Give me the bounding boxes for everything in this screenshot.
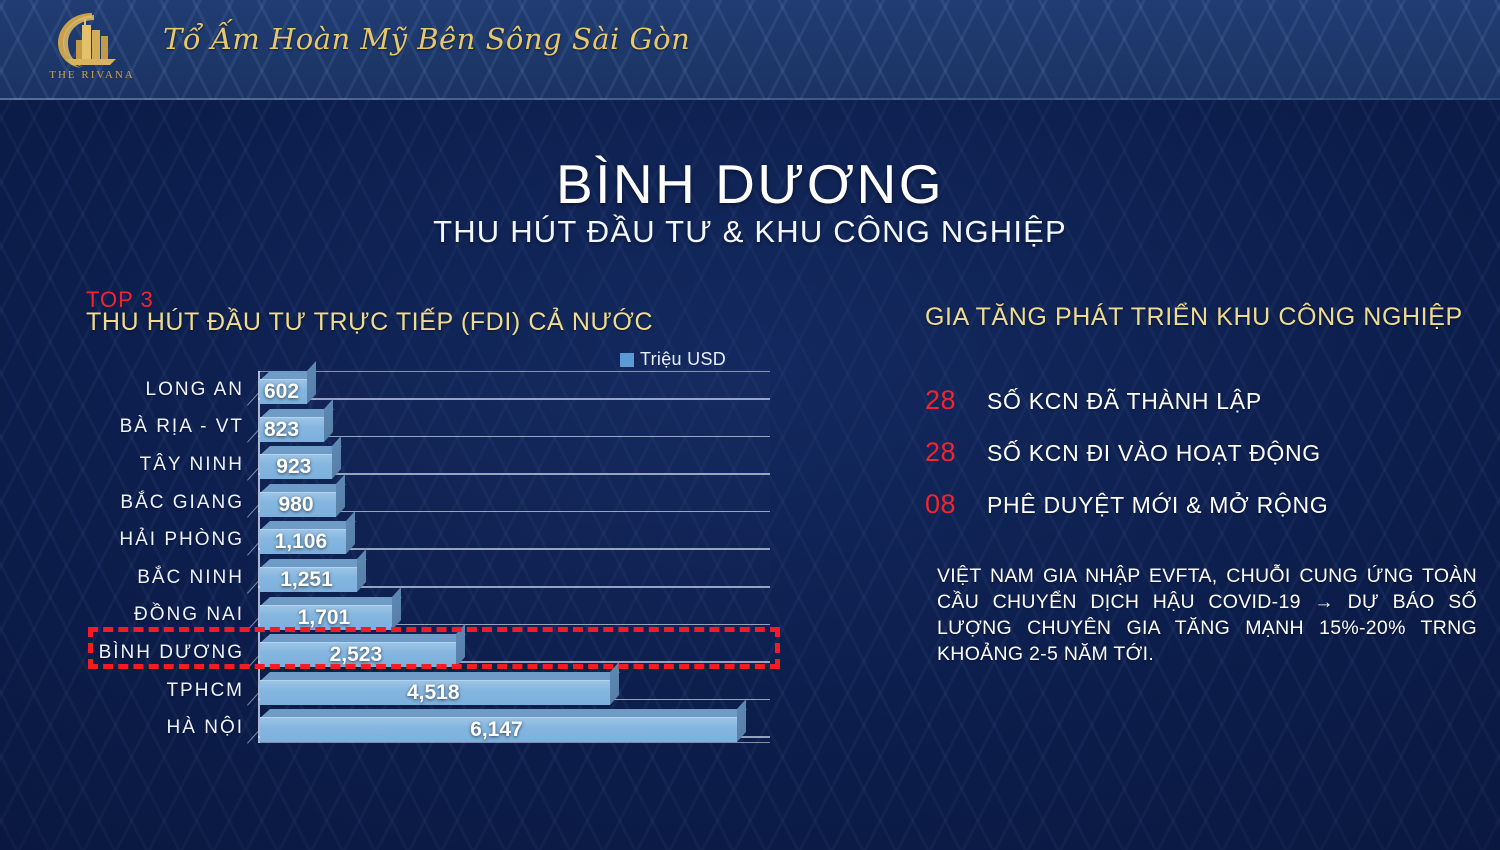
chart-bar-value: 1,106 [258,529,344,554]
chart-depth-edge [247,468,258,481]
chart-depth-edge [247,618,258,631]
chart-category-label: ĐỒNG NAI [134,604,244,626]
stat-row: 08PHÊ DUYỆT MỚI & MỞ RỘNG [925,489,1485,520]
chart-bar-value: 4,518 [258,680,608,705]
chart-row: LONG AN602 [258,371,770,409]
legend-label: Triệu USD [640,349,726,370]
chart-category-label: BẮC GIANG [120,492,244,514]
stat-number: 08 [925,489,987,520]
chart-row: BÀ RỊA - VT823 [258,409,770,447]
chart-row: TPHCM4,518 [258,672,770,710]
chart-bar-value: 980 [258,492,334,517]
stat-label: SỐ KCN ĐI VÀO HOẠT ĐỘNG [987,440,1321,467]
chart-depth-edge [247,393,258,406]
chart-row: HẢI PHÒNG1,106 [258,521,770,559]
chart-bar-value: 1,701 [258,605,390,630]
chart-depth-edge [247,694,258,707]
chart-row: ĐỒNG NAI1,701 [258,597,770,635]
chart-bar-value: 6,147 [258,717,735,742]
chart-category-label: BẮC NINH [137,567,244,589]
chart-plot-area: LONG AN602BÀ RỊA - VT823TÂY NINH923BẮC G… [86,369,786,745]
forecast-note: VIỆT NAM GIA NHẬP EVFTA, CHUỖI CUNG ỨNG … [937,563,1477,668]
brand-logo: THE RIVANA [36,9,148,93]
page-title: BÌNH DƯƠNG [0,152,1500,216]
left-section-heading: THU HÚT ĐẦU TƯ TRỰC TIẾP (FDI) CẢ NƯỚC [86,308,653,337]
chart-bar-value: 1,251 [258,567,355,592]
chart-category-label: BÀ RỊA - VT [120,416,244,438]
page-subtitle: THU HÚT ĐẦU TƯ & KHU CÔNG NGHIỆP [0,214,1500,250]
logo-wordmark: THE RIVANA [36,69,148,81]
chart-bar-value: 923 [258,454,330,479]
logo-icon [36,9,148,73]
stat-label: PHÊ DUYỆT MỚI & MỞ RỘNG [987,492,1328,519]
fdi-bar-chart: Triệu USD LONG AN602BÀ RỊA - VT823TÂY NI… [86,345,786,745]
chart-depth-edge [247,656,258,669]
chart-row: BẮC NINH1,251 [258,559,770,597]
chart-gridline [258,436,770,438]
chart-depth-edge [247,581,258,594]
chart-legend: Triệu USD [620,349,726,370]
stat-number: 28 [925,437,987,468]
chart-category-label: HẢI PHÒNG [119,529,244,551]
stat-label: SỐ KCN ĐÃ THÀNH LẬP [987,388,1262,415]
legend-swatch-icon [620,353,634,367]
chart-row: BÌNH DƯƠNG2,523 [258,634,770,672]
header-band: THE RIVANA Tổ Ấm Hoàn Mỹ Bên Sông Sài Gò… [0,0,1500,100]
stat-row: 28SỐ KCN ĐI VÀO HOẠT ĐỘNG [925,437,1485,468]
stat-number: 28 [925,385,987,416]
chart-depth-edge [247,506,258,519]
right-section-heading: GIA TĂNG PHÁT TRIỂN KHU CÔNG NGHIỆP [925,303,1463,332]
chart-category-label: TÂY NINH [140,454,244,476]
chart-bar-value: 2,523 [258,642,454,667]
chart-depth-edge [247,731,258,744]
chart-row: TÂY NINH923 [258,446,770,484]
chart-row: BẮC GIANG980 [258,484,770,522]
chart-category-label: TPHCM [166,680,244,702]
chart-bar-value: 602 [264,379,299,404]
brand-tagline: Tổ Ấm Hoàn Mỹ Bên Sông Sài Gòn [163,22,690,56]
chart-category-label: HÀ NỘI [167,717,244,739]
chart-row: HÀ NỘI6,147 [258,709,770,747]
chart-depth-edge [247,430,258,443]
chart-gridline [258,398,770,400]
industrial-park-stats: 28SỐ KCN ĐÃ THÀNH LẬP28SỐ KCN ĐI VÀO HOẠ… [925,385,1485,541]
chart-category-label: BÌNH DƯƠNG [99,642,244,664]
chart-depth-edge [247,543,258,556]
stat-row: 28SỐ KCN ĐÃ THÀNH LẬP [925,385,1485,416]
chart-category-label: LONG AN [146,379,244,401]
chart-bar-value: 823 [264,417,299,442]
